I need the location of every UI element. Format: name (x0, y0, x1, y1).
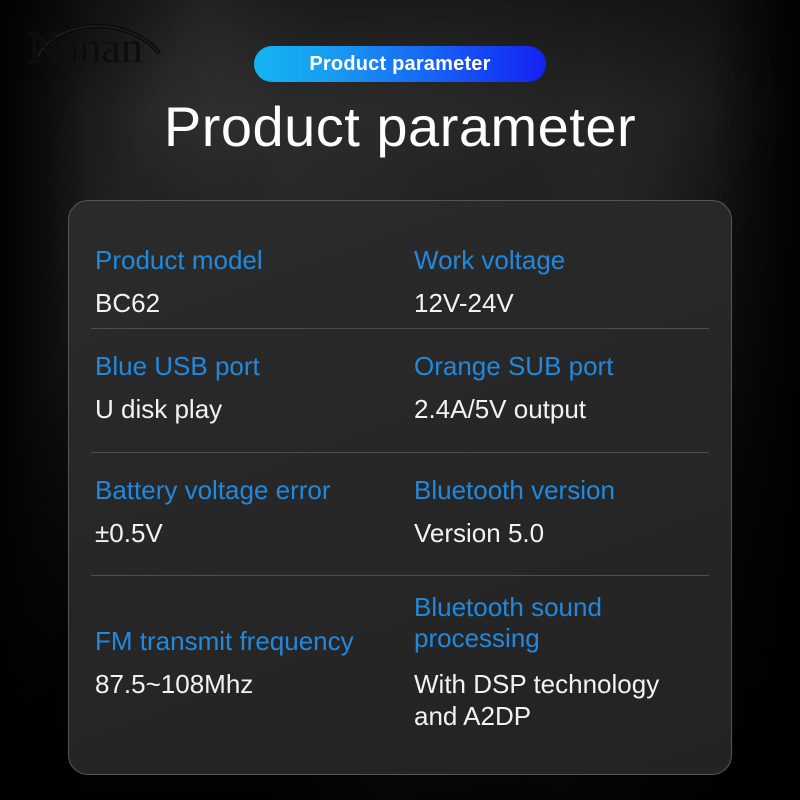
spec-cell: Blue USB port U disk play (91, 351, 400, 452)
spec-cell: Bluetooth sound processing With DSP tech… (400, 592, 709, 775)
spec-label: Bluetooth version (414, 475, 705, 506)
spec-label: Orange SUB port (414, 351, 705, 382)
spec-value: BC62 (95, 288, 396, 319)
spec-label: Bluetooth sound processing (414, 592, 705, 653)
swoosh-arc-icon: Nanan (16, 12, 186, 74)
brand-logo-text: Nanan (28, 23, 143, 72)
spec-label: FM transmit frequency (95, 626, 396, 657)
table-row: Product model BC62 Work voltage 12V-24V (91, 201, 709, 329)
spec-cell: FM transmit frequency 87.5~108Mhz (91, 592, 400, 775)
spec-table-card: Product model BC62 Work voltage 12V-24V … (68, 200, 732, 775)
table-row: Battery voltage error ±0.5V Bluetooth ve… (91, 453, 709, 576)
badge-label: Product parameter (309, 54, 490, 74)
spec-cell: Battery voltage error ±0.5V (91, 475, 400, 575)
spec-cell: Product model BC62 (91, 245, 400, 328)
spec-cell: Work voltage 12V-24V (400, 245, 709, 328)
spec-cell: Bluetooth version Version 5.0 (400, 475, 709, 575)
table-row: Blue USB port U disk play Orange SUB por… (91, 329, 709, 453)
spec-label: Battery voltage error (95, 475, 396, 506)
spec-cell: Orange SUB port 2.4A/5V output (400, 351, 709, 452)
spec-value: 12V-24V (414, 288, 705, 319)
spec-value: With DSP technology and A2DP (414, 669, 705, 732)
table-row: FM transmit frequency 87.5~108Mhz Blueto… (91, 576, 709, 775)
brand-logo: Nanan (16, 12, 186, 74)
spec-label: Product model (95, 245, 396, 276)
page-title: Product parameter (0, 96, 800, 158)
spec-value: 87.5~108Mhz (95, 669, 396, 700)
product-parameter-page: Nanan Product parameter Product paramete… (0, 0, 800, 800)
product-parameter-badge[interactable]: Product parameter (254, 46, 546, 82)
spec-value: Version 5.0 (414, 518, 705, 549)
spec-label: Blue USB port (95, 351, 396, 382)
spec-value: ±0.5V (95, 518, 396, 549)
spec-label: Work voltage (414, 245, 705, 276)
spec-value: U disk play (95, 394, 396, 425)
spec-value: 2.4A/5V output (414, 394, 705, 425)
